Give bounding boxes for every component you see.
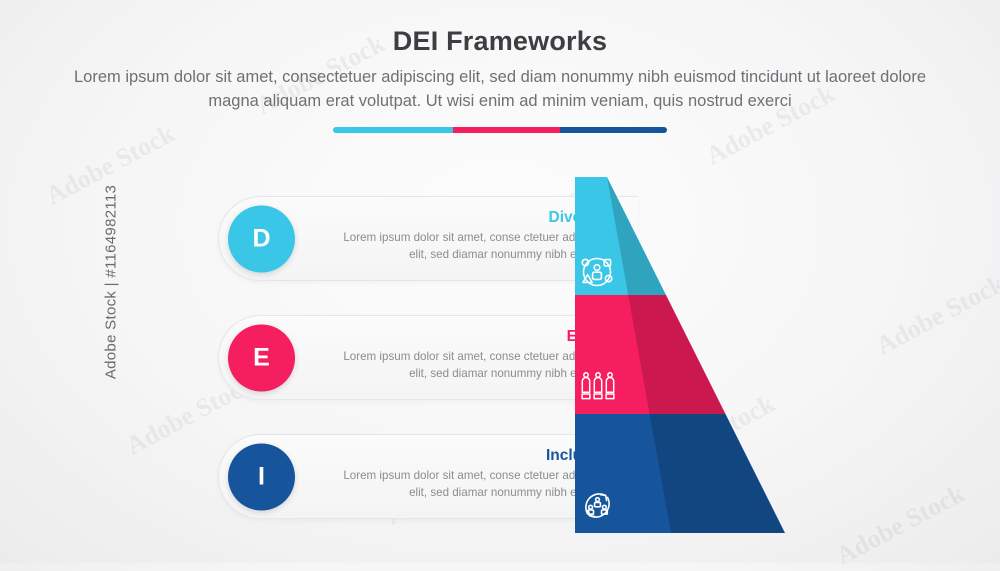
avatar: E — [228, 324, 295, 391]
divider — [333, 127, 667, 133]
avatar: D — [228, 205, 295, 272]
badge-letter: D — [252, 224, 270, 253]
divider-segment-2 — [453, 127, 560, 133]
header: DEI Frameworks Lorem ipsum dolor sit ame… — [0, 0, 1000, 133]
item-title: Diversity — [324, 208, 614, 227]
watermark-tile: Adobe Stock — [871, 269, 1000, 362]
page-subtitle: Lorem ipsum dolor sit amet, consectetuer… — [60, 66, 940, 114]
item-title: Inclusion — [324, 446, 614, 465]
badge-letter: E — [253, 343, 270, 372]
divider-segment-1 — [333, 127, 453, 133]
item-text: Equity Lorem ipsum dolor sit amet, conse… — [324, 327, 614, 382]
item-text: Diversity Lorem ipsum dolor sit amet, co… — [324, 208, 614, 263]
item-title: Equity — [324, 327, 614, 346]
divider-segment-3 — [560, 127, 667, 133]
badge-letter: I — [258, 462, 265, 491]
avatar: I — [228, 443, 295, 510]
pyramid-band-diversity — [575, 177, 787, 295]
pyramid-chart — [575, 177, 787, 534]
item-description: Lorem ipsum dolor sit amet, conse ctetue… — [324, 468, 614, 501]
item-description: Lorem ipsum dolor sit amet, conse ctetue… — [324, 230, 614, 263]
item-text: Inclusion Lorem ipsum dolor sit amet, co… — [324, 446, 614, 501]
item-description: Lorem ipsum dolor sit amet, conse ctetue… — [324, 349, 614, 382]
adobe-stock-watermark: Adobe Stock | #1164982113 — [103, 184, 120, 378]
watermark-tile: Adobe Stock — [831, 479, 969, 571]
page-title: DEI Frameworks — [0, 0, 1000, 57]
